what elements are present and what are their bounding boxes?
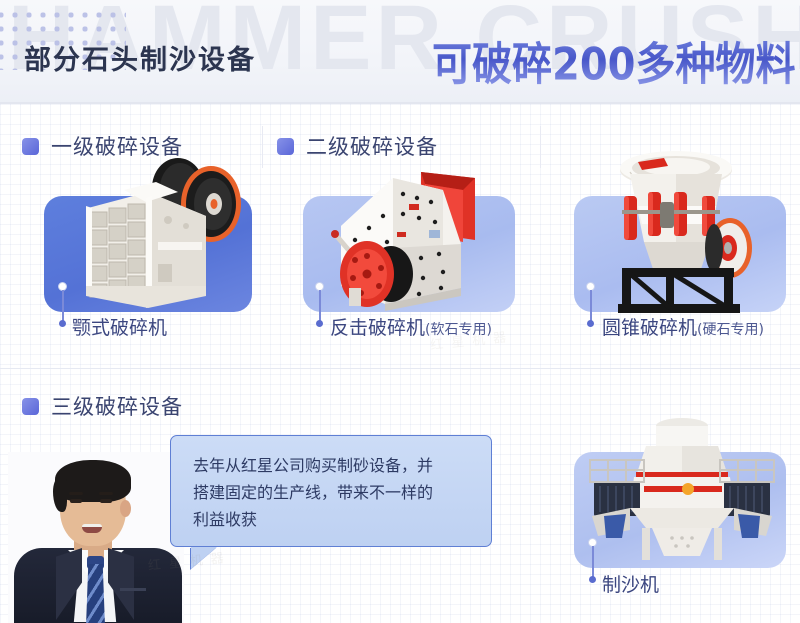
product-note: (硬石专用) bbox=[697, 322, 764, 338]
square-bullet-icon bbox=[22, 398, 39, 415]
section-label: 三级破碎设备 bbox=[51, 391, 183, 421]
page-title: 部分石头制沙设备 bbox=[24, 38, 256, 77]
card-plate bbox=[574, 452, 786, 568]
product-label-sand-maker: 制沙机 bbox=[602, 570, 659, 597]
testimonial-bubble: 去年从红星公司购买制砂设备，并 搭建固定的生产线，带来不一样的 利益收获 bbox=[170, 435, 492, 547]
product-card-sand-maker[interactable] bbox=[574, 452, 786, 568]
card-plate bbox=[574, 196, 786, 312]
square-bullet-icon bbox=[22, 138, 39, 155]
square-bullet-icon bbox=[277, 138, 294, 155]
section-heading-tertiary: 三级破碎设备 bbox=[22, 391, 183, 421]
testimonial-line: 搭建固定的生产线，带来不一样的 bbox=[193, 479, 471, 506]
product-card-cone-crusher[interactable] bbox=[574, 196, 786, 312]
section-heading-secondary: 二级破碎设备 bbox=[277, 131, 438, 161]
product-card-impact-crusher[interactable] bbox=[303, 196, 515, 312]
column-divider bbox=[262, 126, 263, 168]
testimonial-line: 去年从红星公司购买制砂设备，并 bbox=[193, 452, 471, 479]
card-plate bbox=[303, 196, 515, 312]
customer-portrait-icon bbox=[8, 452, 184, 623]
connector-stem bbox=[592, 546, 594, 578]
column-divider bbox=[540, 126, 541, 168]
header-slogan: 可破碎200多种物料 bbox=[432, 28, 796, 93]
product-label-impact-crusher: 反击破碎机(软石专用) bbox=[330, 313, 492, 340]
poster-root: HAMMER CRUSHER 部分石头制沙设备 可破碎200多种物料 一级破碎设… bbox=[0, 0, 800, 623]
connector-bottom-dot bbox=[316, 320, 323, 327]
testimonial-line: 利益收获 bbox=[193, 506, 471, 533]
connector-stem bbox=[319, 290, 321, 322]
connector-bottom-dot bbox=[587, 320, 594, 327]
product-name: 圆锥破碎机 bbox=[602, 317, 697, 339]
header-banner: HAMMER CRUSHER 部分石头制沙设备 可破碎200多种物料 bbox=[0, 0, 800, 104]
section-label: 二级破碎设备 bbox=[306, 131, 438, 161]
product-label-jaw-crusher: 颚式破碎机 bbox=[72, 313, 167, 340]
product-label-cone-crusher: 圆锥破碎机(硬石专用) bbox=[602, 313, 764, 340]
connector-bottom-dot bbox=[59, 320, 66, 327]
section-heading-primary: 一级破碎设备 bbox=[22, 131, 183, 161]
header-divider bbox=[0, 102, 800, 104]
connector-bottom-dot bbox=[589, 576, 596, 583]
product-name: 反击破碎机 bbox=[330, 317, 425, 339]
bubble-tail bbox=[191, 547, 217, 569]
product-note: (软石专用) bbox=[425, 322, 492, 338]
section-label: 一级破碎设备 bbox=[51, 131, 183, 161]
product-card-jaw-crusher[interactable] bbox=[44, 196, 252, 312]
product-name: 制沙机 bbox=[602, 574, 659, 596]
connector-stem bbox=[62, 290, 64, 322]
product-name: 颚式破碎机 bbox=[72, 317, 167, 339]
connector-stem bbox=[590, 290, 592, 322]
card-plate bbox=[44, 196, 252, 312]
section-divider bbox=[0, 368, 800, 369]
